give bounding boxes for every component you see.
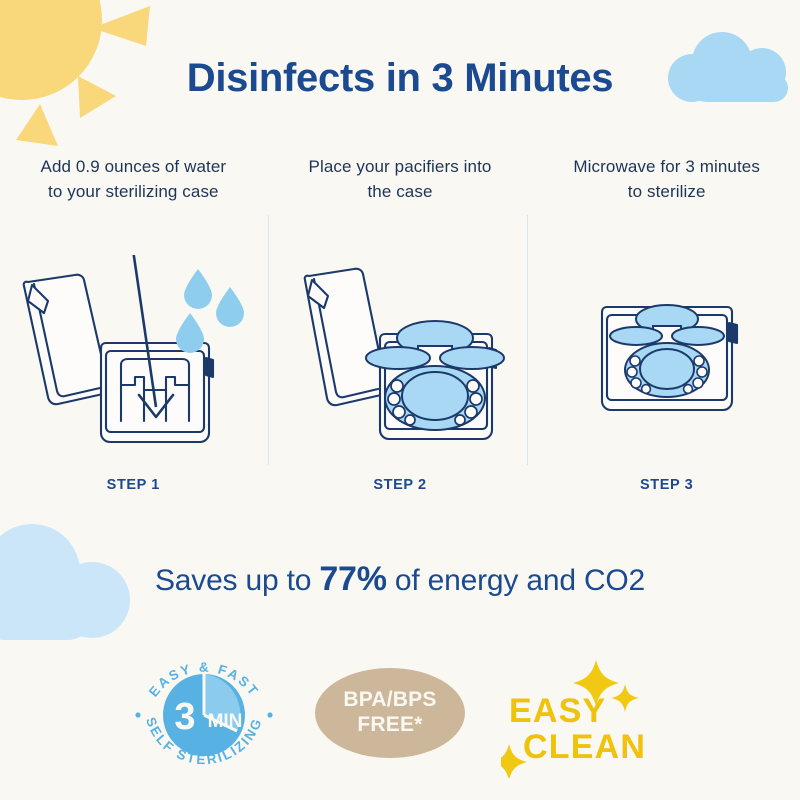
savings-prefix: Saves up to: [155, 564, 319, 597]
step-2: Place your pacifiers into the case: [267, 155, 534, 505]
badges-row: 3 MIN EASY & FAST SELF STERILIZING BPA/B…: [0, 640, 800, 785]
steps-section: Add 0.9 ounces of water to your steriliz…: [0, 155, 800, 505]
savings-percent: 77%: [319, 560, 386, 598]
infographic-page: Disinfects in 3 Minutes Add 0.9 ounces o…: [0, 0, 800, 800]
seal-icon: 3 MIN EASY & FAST SELF STERILIZING: [129, 645, 279, 780]
step-1: Add 0.9 ounces of water to your steriliz…: [0, 155, 267, 505]
easy-clean-line-2: CLEAN: [523, 728, 646, 766]
step-3-illustration: [533, 235, 800, 475]
step-3-caption: Microwave for 3 minutes to sterilize: [567, 155, 767, 235]
step-2-caption: Place your pacifiers into the case: [300, 155, 500, 235]
self-sterilizing-seal-badge: 3 MIN EASY & FAST SELF STERILIZING: [129, 645, 279, 780]
step-3-label: STEP 3: [640, 477, 693, 505]
easy-clean-badge: EASY CLEAN: [501, 648, 671, 778]
easy-clean-line-1: EASY: [509, 692, 606, 730]
step-3: Microwave for 3 minutes to sterilize: [533, 155, 800, 505]
closed-case-with-pacifier-icon: [587, 285, 747, 425]
open-case-with-pacifier-icon: [285, 258, 515, 453]
step-2-illustration: [267, 235, 534, 475]
bpa-line-1: BPA/BPS: [343, 688, 436, 712]
savings-statement: Saves up to 77% of energy and CO2: [0, 560, 800, 599]
water-drop-icon: [176, 269, 244, 353]
seal-center-unit: MIN: [208, 711, 243, 732]
bpa-line-2: FREE*: [357, 713, 422, 737]
step-1-caption: Add 0.9 ounces of water to your steriliz…: [33, 155, 233, 235]
step-1-illustration: [0, 235, 267, 475]
open-case-with-water-drops-icon: [8, 255, 258, 455]
step-2-label: STEP 2: [373, 477, 426, 505]
step-1-label: STEP 1: [107, 477, 160, 505]
seal-center-number: 3: [174, 696, 195, 738]
page-title: Disinfects in 3 Minutes: [0, 56, 800, 101]
bpa-bps-free-badge: BPA/BPS FREE*: [315, 668, 465, 758]
savings-suffix: of energy and CO2: [387, 564, 645, 597]
easy-clean-icon: EASY CLEAN: [501, 648, 671, 778]
